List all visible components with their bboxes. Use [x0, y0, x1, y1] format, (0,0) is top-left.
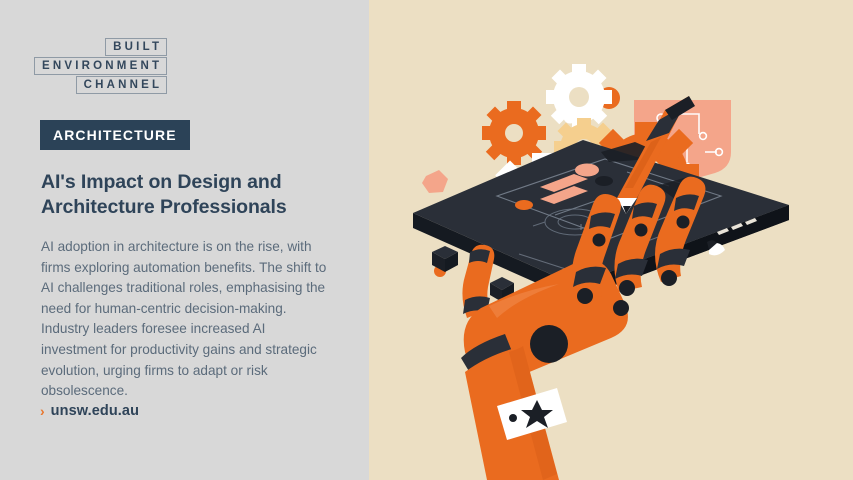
source-link[interactable]: › unsw.edu.au: [40, 403, 139, 419]
page-title: AI's Impact on Design and Architecture P…: [41, 170, 341, 220]
chevron-right-icon: ›: [40, 404, 45, 418]
left-content-panel: BUILT ENVIRONMENT CHANNEL ARCHITECTURE A…: [0, 0, 369, 480]
logo-line-built: BUILT: [105, 38, 167, 56]
source-link-label: unsw.edu.au: [51, 403, 139, 419]
article-summary: AI adoption in architecture is on the ri…: [41, 237, 329, 402]
palm-joint: [530, 325, 568, 363]
logo-line-channel: CHANNEL: [76, 76, 168, 94]
promo-card: BUILT ENVIRONMENT CHANNEL ARCHITECTURE A…: [0, 0, 853, 480]
palm-bolt: [613, 300, 629, 316]
logo-line-environment: ENVIRONMENT: [34, 57, 167, 75]
ai-robot-illustration: [369, 0, 853, 480]
status-badge: ARCHITECTURE: [40, 120, 190, 150]
brand-logo: BUILT ENVIRONMENT CHANNEL: [34, 38, 167, 94]
illustration-panel: [369, 0, 853, 480]
